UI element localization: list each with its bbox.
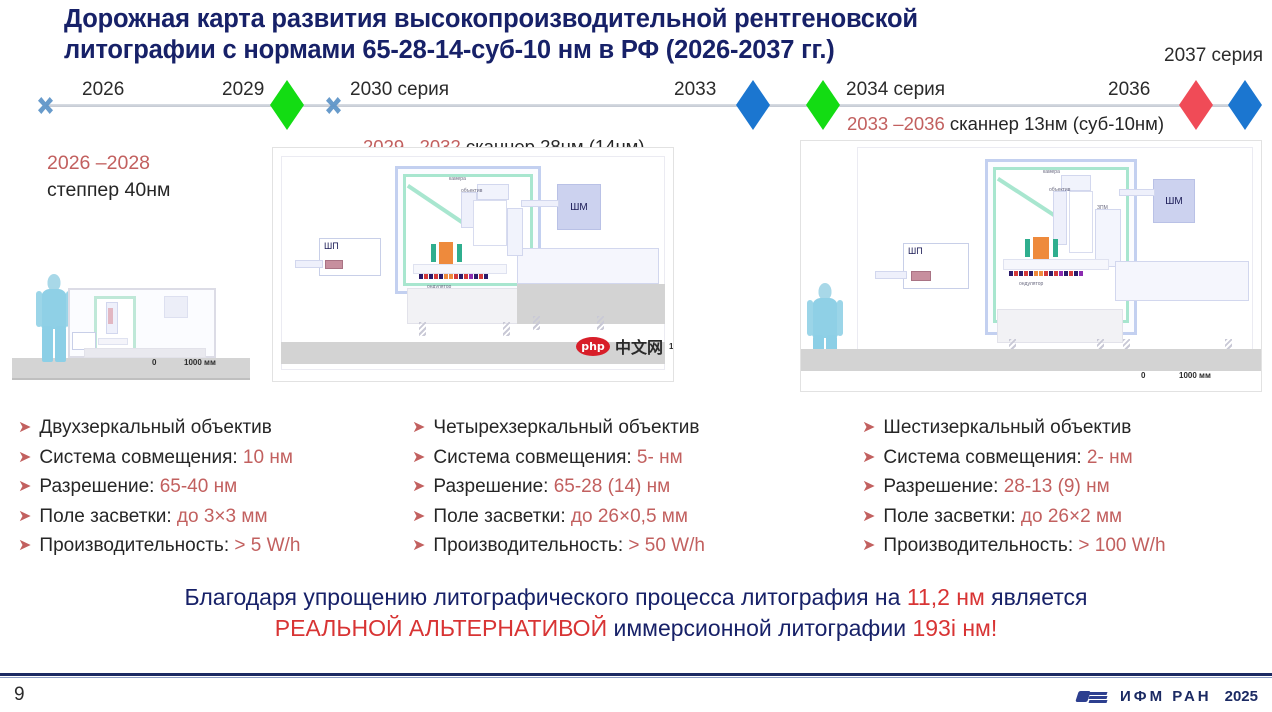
timeline-year-2037: 2037 серия	[1164, 45, 1263, 67]
list-item: ➤Система совмещения: 5- нм	[412, 446, 812, 469]
list-item: ➤Двухзеркальный объектив	[18, 416, 388, 439]
spec-label: Поле засветки:	[883, 506, 1015, 527]
arrow-bullet-icon: ➤	[412, 538, 425, 554]
arrow-bullet-icon: ➤	[18, 420, 31, 436]
timeline-marker-1[interactable]	[38, 97, 53, 114]
spec-label: Производительность:	[433, 535, 623, 556]
slide-root: Дорожная карта развития высокопроизводит…	[0, 0, 1272, 712]
timeline-marker-4[interactable]	[736, 80, 770, 130]
spec-label: Система совмещения:	[39, 447, 237, 468]
diamond-icon	[270, 80, 304, 130]
scale-length-p2: 1000 мм	[669, 342, 674, 351]
institute-logo-icon	[1077, 689, 1107, 704]
conclusion-alternative: РЕАЛЬНОЙ АЛЬТЕРНАТИВОЙ	[275, 615, 607, 641]
list-item: ➤Поле засветки: до 26×2 мм	[862, 505, 1262, 528]
title-line-2: литографии с нормами 65-28-14-суб-10 нм …	[64, 35, 1204, 66]
footer-right: ИФМ РАН 2025	[1077, 688, 1258, 705]
footer-divider	[0, 672, 1272, 679]
diamond-icon	[806, 80, 840, 130]
arrow-bullet-icon: ➤	[412, 509, 425, 525]
timeline-year-2029: 2029	[222, 79, 264, 101]
spec-column-scanner-13: ➤Шестизеркальный объектив ➤Система совме…	[862, 416, 1262, 564]
spec-value: 10 нм	[238, 447, 293, 468]
equipment-image-stepper: 0 1000 мм	[12, 262, 250, 380]
list-item: ➤Производительность: > 50 W/h	[412, 534, 812, 557]
spec-label: Разрешение:	[433, 476, 548, 497]
spec-label: Производительность:	[883, 535, 1073, 556]
arrow-bullet-icon: ➤	[18, 509, 31, 525]
timeline-marker-6[interactable]	[1179, 80, 1213, 130]
spec-label: Производительность:	[39, 535, 229, 556]
arrow-bullet-icon: ➤	[412, 420, 425, 436]
title-line-1: Дорожная карта развития высокопроизводит…	[64, 5, 918, 33]
timeline-marker-7[interactable]	[1228, 80, 1262, 130]
diamond-icon	[736, 80, 770, 130]
shm-label-p3: ШМ	[1153, 179, 1195, 223]
list-item: ➤Шестизеркальный объектив	[862, 416, 1262, 439]
timeline-year-2036: 2036	[1108, 79, 1150, 101]
arrow-bullet-icon: ➤	[18, 450, 31, 466]
scale-zero-p1: 0	[152, 358, 156, 367]
stepper-schematic	[68, 288, 216, 358]
spec-label: Шестизеркальный объектив	[883, 417, 1131, 438]
conclusion-line2-b: иммерсионной литографии	[607, 615, 912, 641]
arrow-bullet-icon: ➤	[412, 450, 425, 466]
footer-year: 2025	[1225, 688, 1258, 705]
arrow-bullet-icon: ➤	[18, 538, 31, 554]
caption-stepper-text: степпер 40нм	[47, 177, 170, 204]
shp-label-p2: ШП	[319, 238, 381, 276]
list-item: ➤Разрешение: 28-13 (9) нм	[862, 475, 1262, 498]
spec-value: 65-40 нм	[154, 476, 237, 497]
scale-length-p1: 1000 мм	[184, 358, 216, 367]
timeline-year-2026: 2026	[82, 79, 124, 101]
spec-value: 5- нм	[632, 447, 683, 468]
list-item: ➤Разрешение: 65-40 нм	[18, 475, 388, 498]
equipment-image-scanner-28: камера объектив ондулятор ШП	[272, 147, 674, 382]
conclusion-highlight-2: 193i нм!	[912, 615, 997, 641]
shp-label-p3: ШП	[903, 243, 969, 289]
spec-value: > 50 W/h	[623, 535, 705, 556]
page-title: Дорожная карта развития высокопроизводит…	[64, 4, 1204, 66]
page-number: 9	[14, 684, 25, 706]
diamond-icon	[1179, 80, 1213, 130]
equipment-image-scanner-13: камера объектив ЗПМ ондулятор ШП	[800, 140, 1262, 392]
human-scale-figure	[36, 274, 72, 362]
timeline-year-2030: 2030 серия	[350, 79, 449, 101]
caption-scanner-13-text: сканнер 13нм (суб-10нм)	[945, 113, 1164, 134]
list-item: ➤Производительность: > 100 W/h	[862, 534, 1262, 557]
magnet-array	[1009, 271, 1083, 276]
list-item: ➤Разрешение: 65-28 (14) нм	[412, 475, 812, 498]
x-marker-icon	[38, 97, 53, 114]
caption-stepper: 2026 –2028 степпер 40нм	[47, 150, 170, 204]
floor-line	[12, 378, 250, 380]
arrow-bullet-icon: ➤	[862, 538, 875, 554]
php-badge-icon: php	[576, 337, 610, 356]
spec-label: Поле засветки:	[433, 506, 565, 527]
conclusion-line1-a: Благодаря упрощению литографического про…	[185, 584, 907, 610]
timeline-marker-3[interactable]	[326, 97, 341, 114]
spec-value: до 26×0,5 мм	[566, 506, 688, 527]
caption-scanner-13-years: 2033 –2036	[847, 113, 945, 134]
list-item: ➤Производительность: > 5 W/h	[18, 534, 388, 557]
spec-column-stepper: ➤Двухзеркальный объектив ➤Система совмещ…	[18, 416, 388, 564]
spec-value: > 100 W/h	[1073, 535, 1165, 556]
spec-value: до 3×3 мм	[172, 506, 268, 527]
conclusion-text: Благодаря упрощению литографического про…	[0, 582, 1272, 644]
spec-value: 28-13 (9) нм	[998, 476, 1109, 497]
spec-label: Поле засветки:	[39, 506, 171, 527]
arrow-bullet-icon: ➤	[862, 420, 875, 436]
magnet-array	[419, 274, 488, 279]
x-marker-icon	[326, 97, 341, 114]
spec-label: Разрешение:	[39, 476, 154, 497]
spec-value: > 5 W/h	[229, 535, 300, 556]
arrow-bullet-icon: ➤	[18, 479, 31, 495]
list-item: ➤Система совмещения: 2- нм	[862, 446, 1262, 469]
list-item: ➤Поле засветки: до 3×3 мм	[18, 505, 388, 528]
list-item: ➤Система совмещения: 10 нм	[18, 446, 388, 469]
watermark: php 中文网	[576, 334, 663, 358]
scale-zero-p3: 0	[1141, 371, 1145, 380]
timeline-marker-2[interactable]	[270, 80, 304, 130]
spec-value: 2- нм	[1082, 447, 1133, 468]
spec-label: Система совмещения:	[883, 447, 1081, 468]
timeline-year-2033: 2033	[674, 79, 716, 101]
scanner-13-schematic: камера объектив ЗПМ ондулятор ШП	[857, 147, 1253, 369]
conclusion-highlight-1: 11,2 нм	[907, 584, 985, 610]
scale-length-p3: 1000 мм	[1179, 371, 1211, 380]
watermark-text: 中文网	[615, 334, 663, 358]
timeline-year-2034: 2034 серия	[846, 79, 945, 101]
spec-label: Разрешение:	[883, 476, 998, 497]
timeline-marker-5[interactable]	[806, 80, 840, 130]
spec-value: 65-28 (14) нм	[548, 476, 670, 497]
list-item: ➤Четырехзеркальный объектив	[412, 416, 812, 439]
timeline-axis	[46, 104, 1246, 107]
shm-label-p2: ШМ	[557, 184, 601, 230]
spec-label: Четырехзеркальный объектив	[433, 417, 699, 438]
caption-stepper-years: 2026 –2028	[47, 150, 170, 177]
arrow-bullet-icon: ➤	[412, 479, 425, 495]
spec-label: Двухзеркальный объектив	[39, 417, 271, 438]
arrow-bullet-icon: ➤	[862, 450, 875, 466]
diamond-icon	[1228, 80, 1262, 130]
conclusion-line1-b: является	[985, 584, 1088, 610]
spec-value: до 26×2 мм	[1016, 506, 1122, 527]
list-item: ➤Поле засветки: до 26×0,5 мм	[412, 505, 812, 528]
arrow-bullet-icon: ➤	[862, 479, 875, 495]
spec-column-scanner-28: ➤Четырехзеркальный объектив ➤Система сов…	[412, 416, 812, 564]
caption-scanner-13: 2033 –2036 сканнер 13нм (суб-10нм)	[847, 113, 1164, 135]
institute-name: ИФМ РАН	[1120, 688, 1212, 705]
spec-label: Система совмещения:	[433, 447, 631, 468]
arrow-bullet-icon: ➤	[862, 509, 875, 525]
